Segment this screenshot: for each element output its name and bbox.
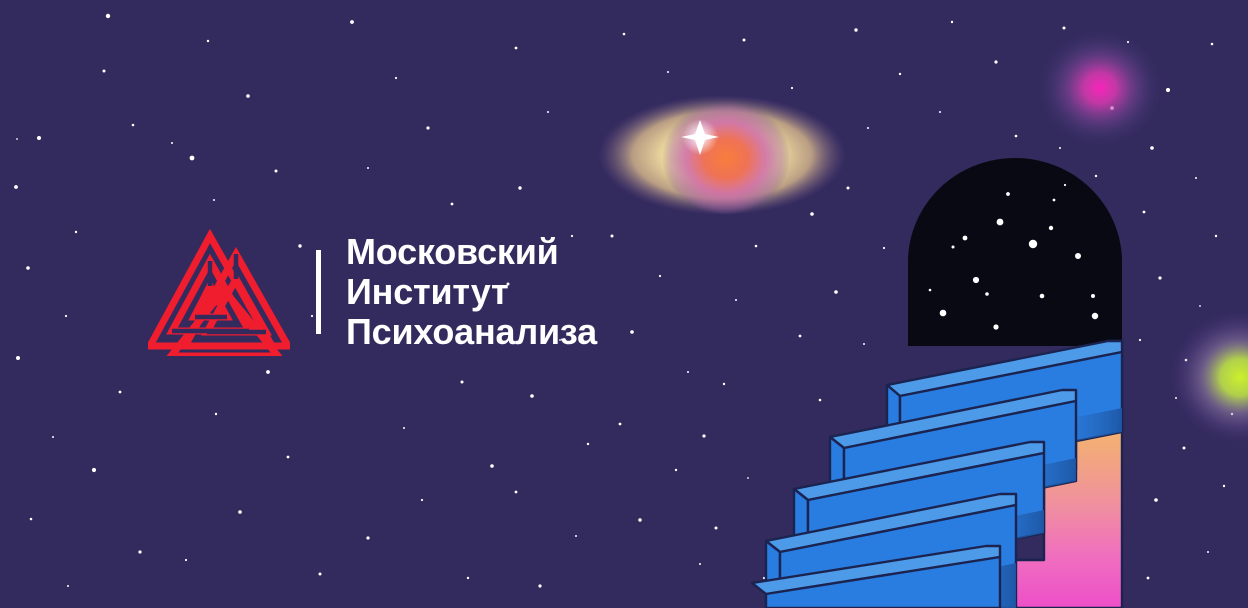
magenta-nebula <box>1038 30 1162 146</box>
cosmic-banner: Московский Институт Психоанализа <box>0 0 1248 608</box>
cosmic-eye-nebula <box>598 95 846 215</box>
valknut-triangle-labyrinth-logo-icon[interactable] <box>148 228 290 356</box>
brand-name-line-1: Московский <box>346 232 597 272</box>
brand-name-line-3: Психоанализа <box>346 312 597 352</box>
brand-lockup[interactable]: Московский Институт Психоанализа <box>148 222 597 362</box>
brand-name: Московский Институт Психоанализа <box>346 232 597 352</box>
brand-divider <box>316 250 321 334</box>
brand-name-line-2: Институт <box>346 272 597 312</box>
